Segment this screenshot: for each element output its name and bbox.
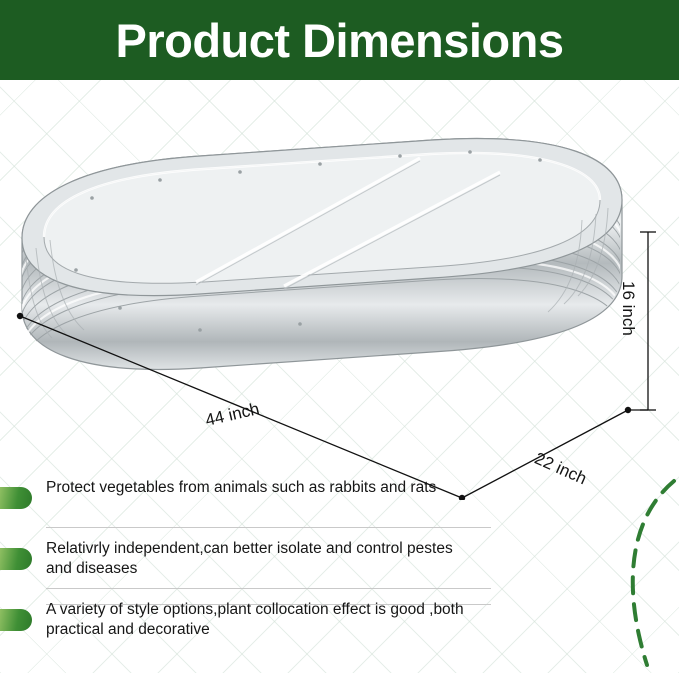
feature-text: Protect vegetables from animals such as …	[46, 478, 436, 498]
bullet-icon	[0, 487, 32, 509]
page-title: Product Dimensions	[0, 0, 679, 80]
bullet-icon	[0, 548, 32, 570]
list-item: A variety of style options,plant colloca…	[0, 600, 679, 646]
header-banner: Product Dimensions	[0, 0, 679, 80]
feature-list: Protect vegetables from animals such as …	[0, 478, 679, 661]
feature-text: A variety of style options,plant colloca…	[46, 600, 466, 640]
bullet-icon	[0, 609, 32, 631]
bed-body	[20, 135, 624, 374]
product-dimensions-infographic: Product Dimensions	[0, 0, 679, 673]
feature-text: Relativrly independent,can better isolat…	[46, 539, 466, 579]
list-item: Relativrly independent,can better isolat…	[0, 539, 679, 585]
dimension-label-height: 16 inch	[618, 281, 638, 336]
raised-bed-drawing	[0, 80, 679, 500]
product-illustration	[0, 80, 679, 500]
list-item: Protect vegetables from animals such as …	[0, 478, 679, 524]
